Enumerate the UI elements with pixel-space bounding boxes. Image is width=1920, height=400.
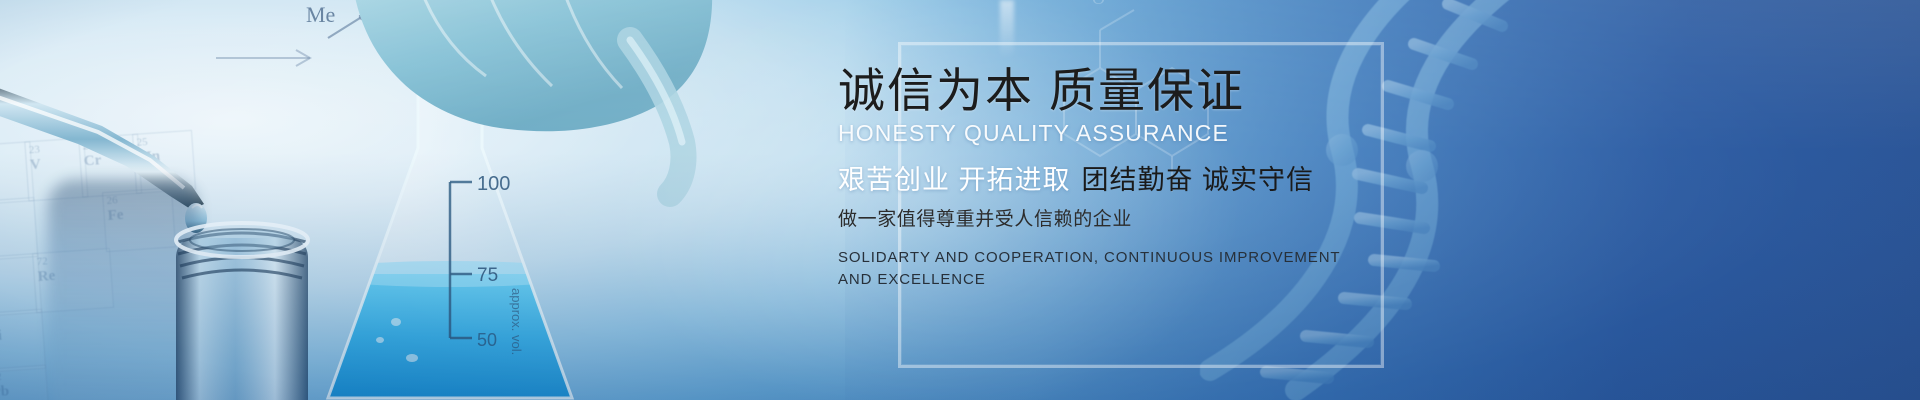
banner-copy: 诚信为本 质量保证 HONESTY QUALITY ASSURANCE 艰苦创业…	[838, 62, 1478, 291]
slogan-part-dark: 团结勤奋 诚实守信	[1082, 165, 1315, 195]
footer-english: SOLIDARTY AND COOPERATION, CONTINUOUS IM…	[838, 247, 1478, 291]
headline-english: HONESTY QUALITY ASSURANCE	[838, 120, 1478, 147]
hero-banner: 41Me 21Sc 73W 83Bi 82Pb 23V 72Re 24Cr 25…	[0, 0, 1920, 400]
headline-chinese: 诚信为本 质量保证	[838, 62, 1478, 119]
slogan-part-light: 艰苦创业 开拓进取	[838, 165, 1071, 195]
footer-english-line2: AND EXCELLENCE	[838, 269, 1478, 291]
footer-english-line1: SOLIDARTY AND COOPERATION, CONTINUOUS IM…	[838, 247, 1478, 269]
slogan-line: 艰苦创业 开拓进取团结勤奋 诚实守信	[838, 164, 1478, 198]
tagline-chinese: 做一家值得尊重并受人信赖的企业	[838, 204, 1478, 231]
